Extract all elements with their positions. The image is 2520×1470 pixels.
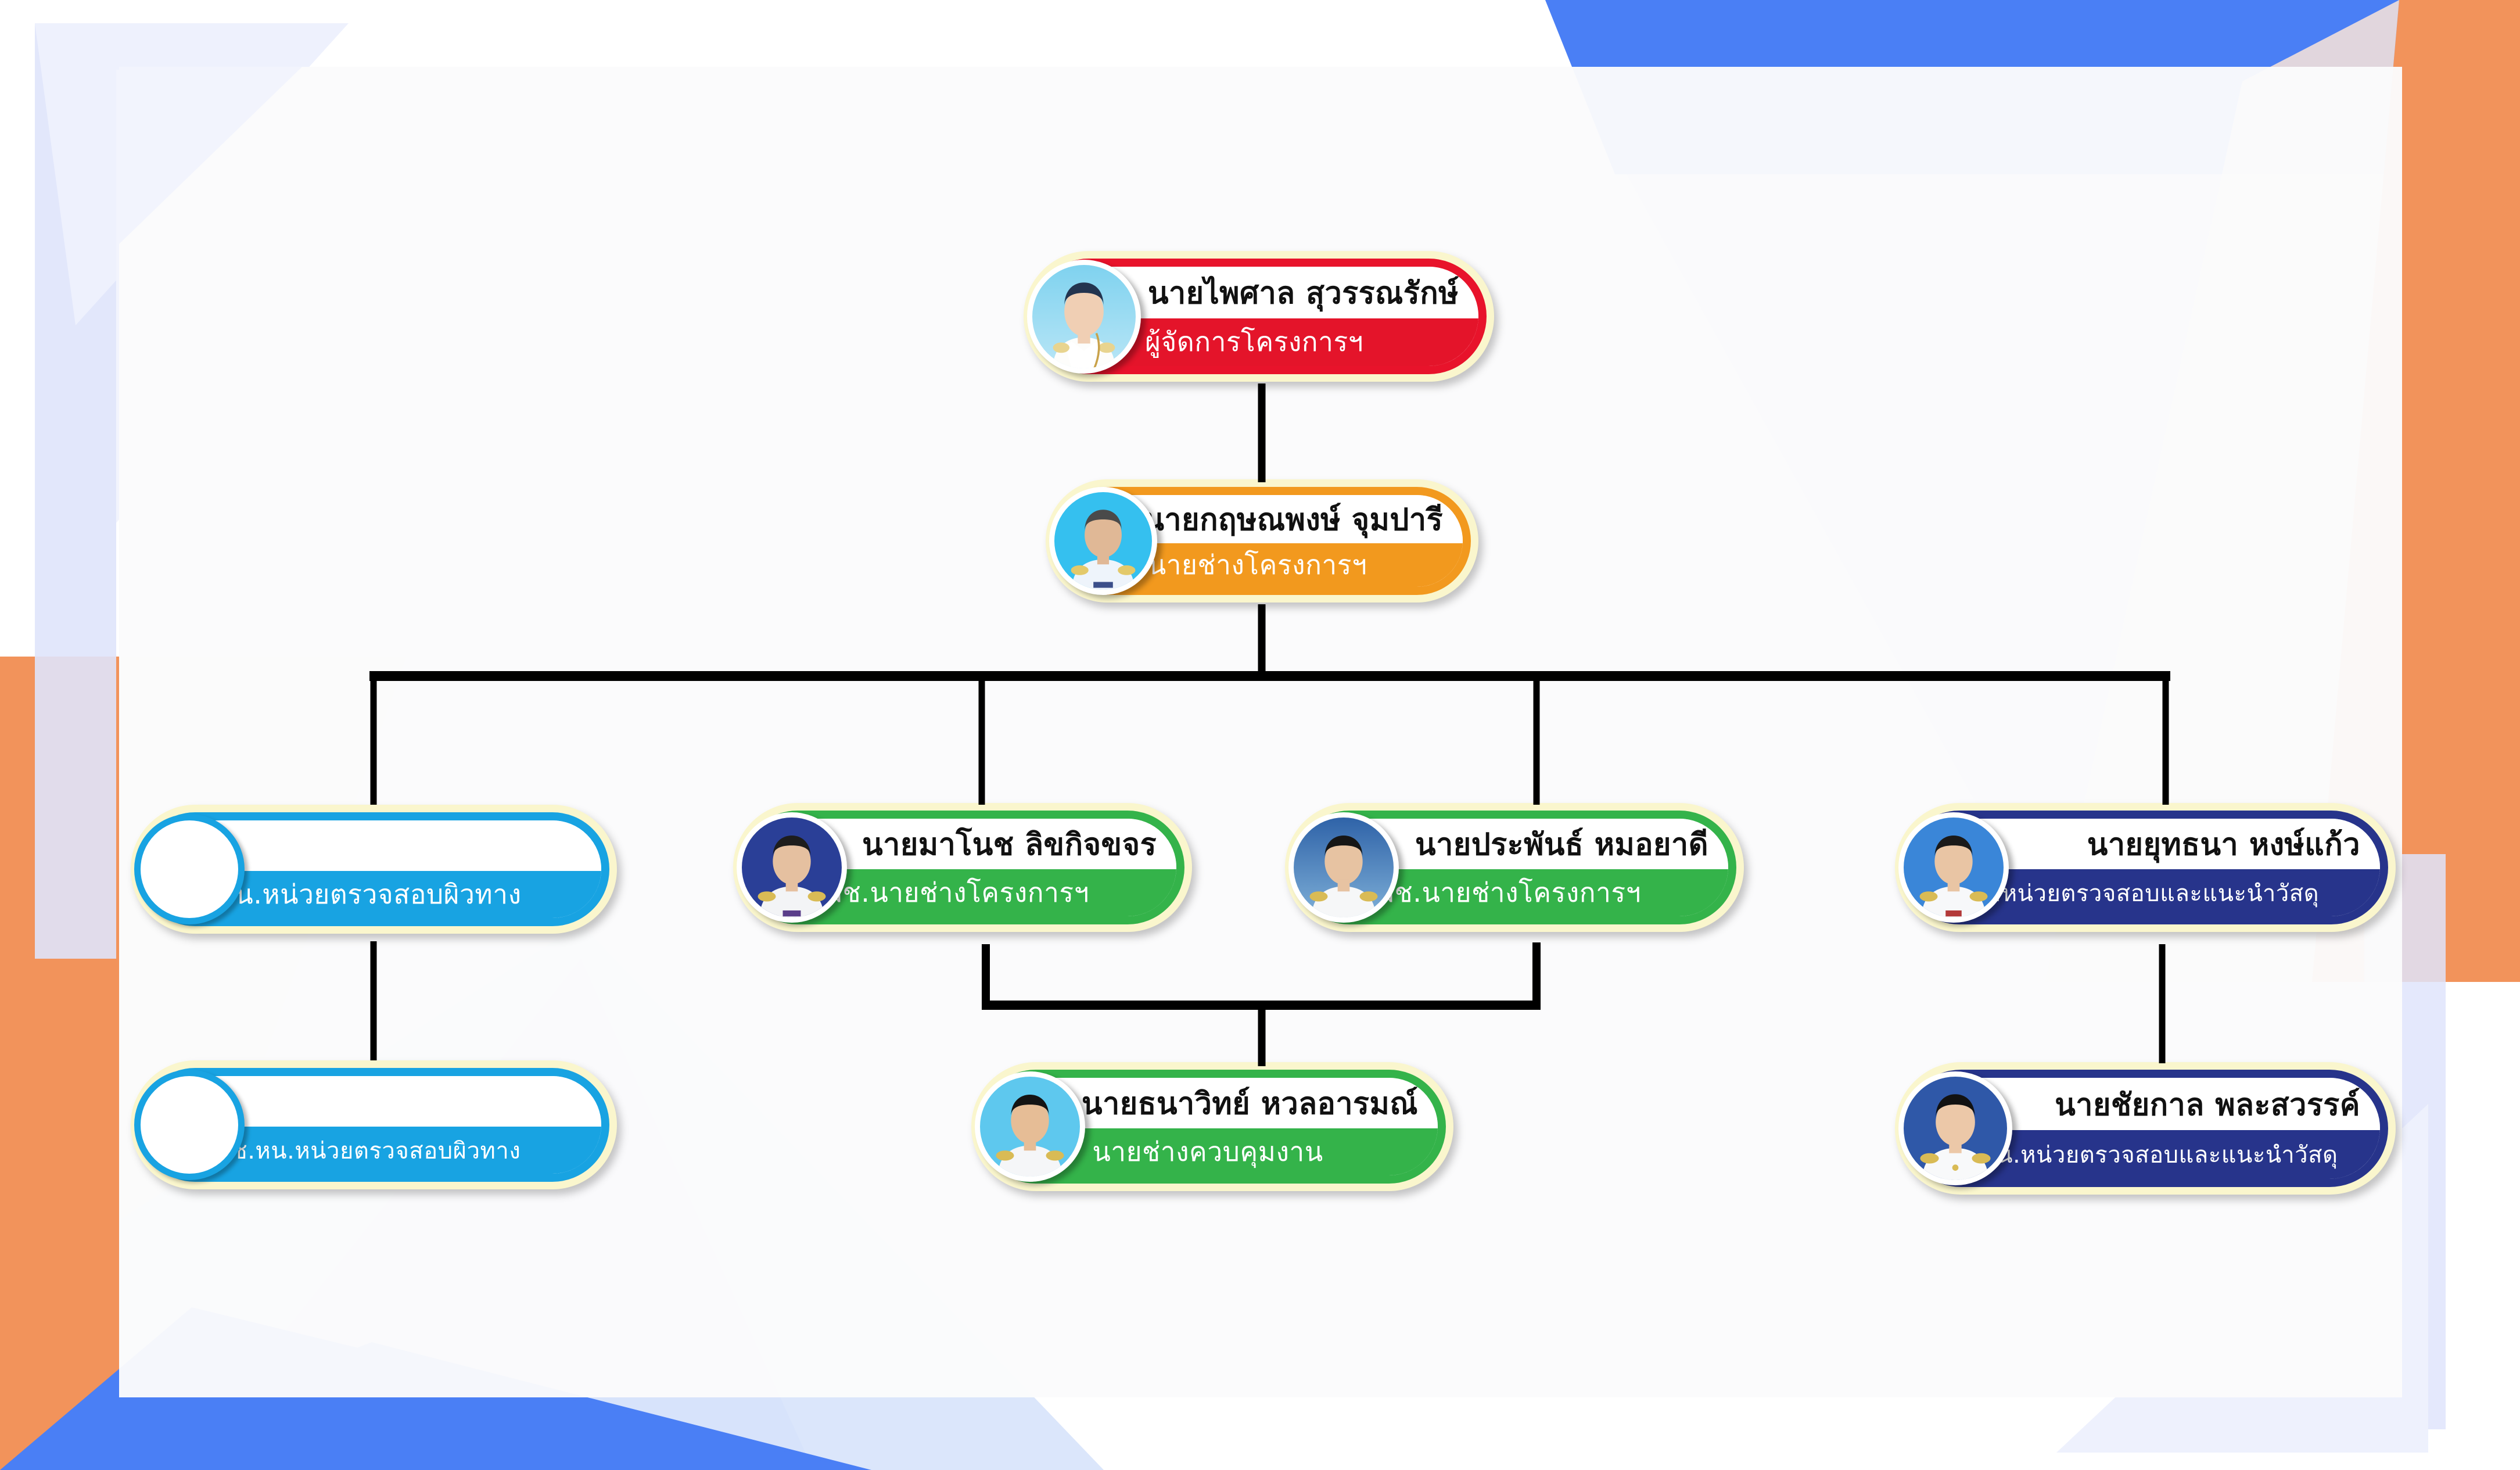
edge-bus: [369, 671, 2170, 681]
connector-lines: [0, 0, 2520, 1470]
